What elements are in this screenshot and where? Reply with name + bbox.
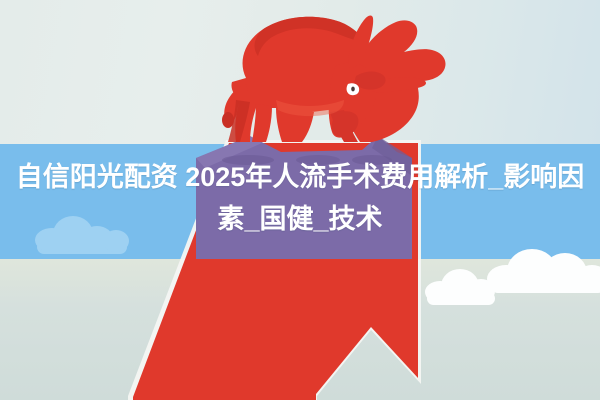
headline-text: 自信阳光配资 2025年人流手术费用解析_影响因素_国健_技术 (0, 156, 600, 240)
banner-image: 自信阳光配资 2025年人流手术费用解析_影响因素_国健_技术 (0, 0, 600, 400)
cloud-white-large-icon (487, 247, 600, 297)
red-bull-icon (222, 16, 446, 142)
